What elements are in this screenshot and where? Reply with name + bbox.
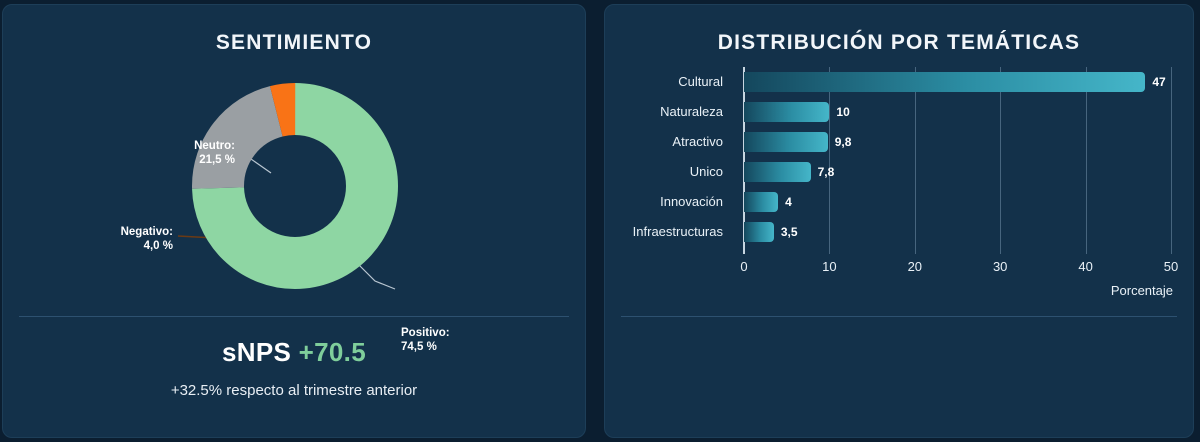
bar-value-label: 7,8: [818, 165, 835, 179]
dashboard: SENTIMIENTO Neutro: 21,5 %: [0, 0, 1200, 442]
bar-row[interactable]: Innovación4: [605, 189, 1194, 215]
bar-track: [744, 132, 828, 152]
snps-headline: sNPS +70.5: [3, 337, 585, 368]
bar-track: [744, 192, 778, 212]
bar-row[interactable]: Atractivo9,8: [605, 129, 1194, 155]
page-title: SENTIMIENTO: [3, 31, 585, 55]
sentiment-card: SENTIMIENTO Neutro: 21,5 %: [2, 4, 586, 438]
themes-title: DISTRIBUCIÓN POR TEMÁTICAS: [605, 31, 1193, 55]
bar-row[interactable]: Naturaleza10: [605, 99, 1194, 125]
bar-fill[interactable]: [744, 192, 778, 212]
bar-row[interactable]: Infraestructuras3,5: [605, 219, 1194, 245]
bar-track: [744, 162, 811, 182]
bar-value-label: 10: [836, 105, 849, 119]
bar-row[interactable]: Unico7,8: [605, 159, 1194, 185]
bar-track: [744, 102, 829, 122]
bar-value-label: 3,5: [781, 225, 798, 239]
snps-value: +70.5: [299, 337, 366, 367]
bar-fill[interactable]: [744, 72, 1145, 92]
bar-fill[interactable]: [744, 132, 828, 152]
bar-category-label: Naturaleza: [605, 104, 723, 119]
bar-category-label: Innovación: [605, 194, 723, 209]
donut-label-neutro-value: 21,5 %: [155, 153, 235, 167]
x-tick-0: 0: [740, 259, 747, 274]
card-divider: [19, 316, 569, 317]
snps-subtitle: +32.5% respecto al trimestre anterior: [3, 382, 585, 399]
bar-chart: Cultural47Naturaleza10Atractivo9,8Unico7…: [605, 59, 1194, 309]
x-tick-20: 20: [908, 259, 922, 274]
bar-track: [744, 222, 774, 242]
bar-row[interactable]: Cultural47: [605, 69, 1194, 95]
x-tick-40: 40: [1078, 259, 1092, 274]
bar-category-label: Unico: [605, 164, 723, 179]
donut-label-negativo-value: 4,0 %: [93, 239, 173, 253]
donut-chart: Neutro: 21,5 % Negativo: 4,0 % Positivo:…: [3, 61, 586, 311]
donut-label-negativo: Negativo: 4,0 %: [93, 225, 173, 253]
donut-chart-svg: [3, 61, 586, 311]
snps-label: sNPS: [222, 337, 291, 367]
bar-value-label: 4: [785, 195, 792, 209]
donut-label-negativo-name: Negativo:: [93, 225, 173, 239]
bar-fill[interactable]: [744, 162, 811, 182]
bar-category-label: Atractivo: [605, 134, 723, 149]
bar-category-label: Infraestructuras: [605, 224, 723, 239]
snps-block: sNPS +70.5 +32.5% respecto al trimestre …: [3, 337, 585, 399]
donut-ring: [218, 109, 372, 263]
x-tick-50: 50: [1164, 259, 1178, 274]
card-divider-right: [621, 316, 1177, 317]
bar-value-label: 47: [1152, 75, 1165, 89]
bar-category-label: Cultural: [605, 74, 723, 89]
bar-track: [744, 72, 1145, 92]
donut-label-neutro-name: Neutro:: [155, 139, 235, 153]
donut-label-neutro: Neutro: 21,5 %: [155, 139, 235, 167]
bar-fill[interactable]: [744, 102, 829, 122]
bar-fill[interactable]: [744, 222, 774, 242]
x-axis-label: Porcentaje: [1111, 283, 1173, 298]
bar-value-label: 9,8: [835, 135, 852, 149]
x-tick-10: 10: [822, 259, 836, 274]
positivo-leader-line: [355, 261, 395, 289]
x-tick-30: 30: [993, 259, 1007, 274]
themes-card: DISTRIBUCIÓN POR TEMÁTICAS Cultural47Nat…: [604, 4, 1194, 438]
